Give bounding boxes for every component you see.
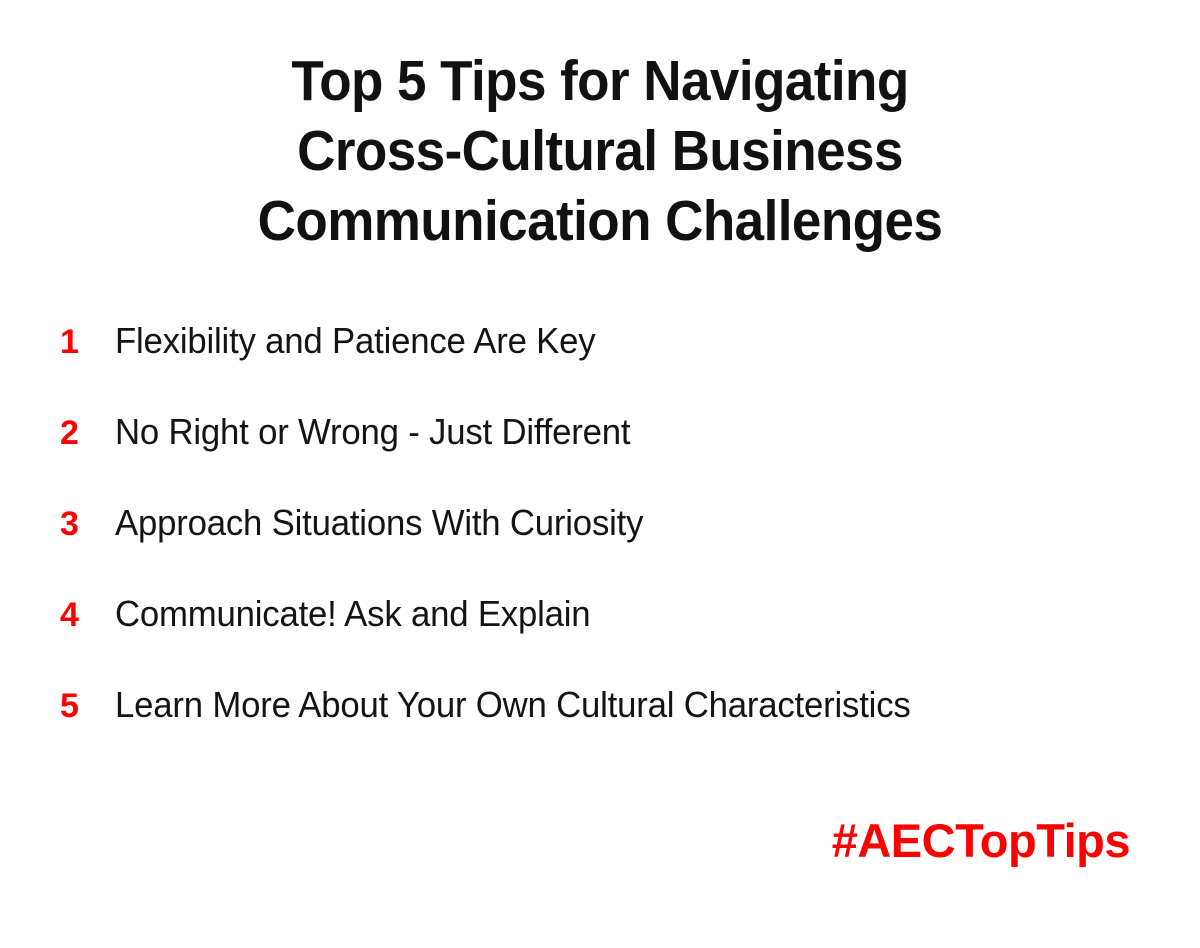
tip-number: 4 (60, 592, 115, 638)
list-item: 4 Communicate! Ask and Explain (60, 591, 1160, 682)
tips-list: 1 Flexibility and Patience Are Key 2 No … (60, 318, 1160, 773)
tip-number: 3 (60, 501, 115, 547)
tip-number: 5 (60, 683, 115, 729)
tip-text: No Right or Wrong - Just Different (115, 409, 1123, 455)
tip-text: Approach Situations With Curiosity (115, 500, 1123, 546)
page-title: Top 5 Tips for Navigating Cross-Cultural… (0, 46, 1200, 256)
list-item: 2 No Right or Wrong - Just Different (60, 409, 1160, 500)
title-line-1: Top 5 Tips for Navigating (42, 46, 1158, 116)
slide-canvas: Top 5 Tips for Navigating Cross-Cultural… (0, 0, 1200, 948)
tip-number: 2 (60, 410, 115, 456)
tip-text: Communicate! Ask and Explain (115, 591, 1123, 637)
tip-text: Learn More About Your Own Cultural Chara… (115, 682, 1123, 728)
tip-number: 1 (60, 319, 115, 365)
list-item: 3 Approach Situations With Curiosity (60, 500, 1160, 591)
title-line-2: Cross-Cultural Business (42, 116, 1158, 186)
title-line-3: Communication Challenges (42, 186, 1158, 256)
hashtag-label: #AECTopTips (0, 813, 1130, 869)
tip-text: Flexibility and Patience Are Key (115, 318, 1123, 364)
list-item: 1 Flexibility and Patience Are Key (60, 318, 1160, 409)
list-item: 5 Learn More About Your Own Cultural Cha… (60, 682, 1160, 773)
